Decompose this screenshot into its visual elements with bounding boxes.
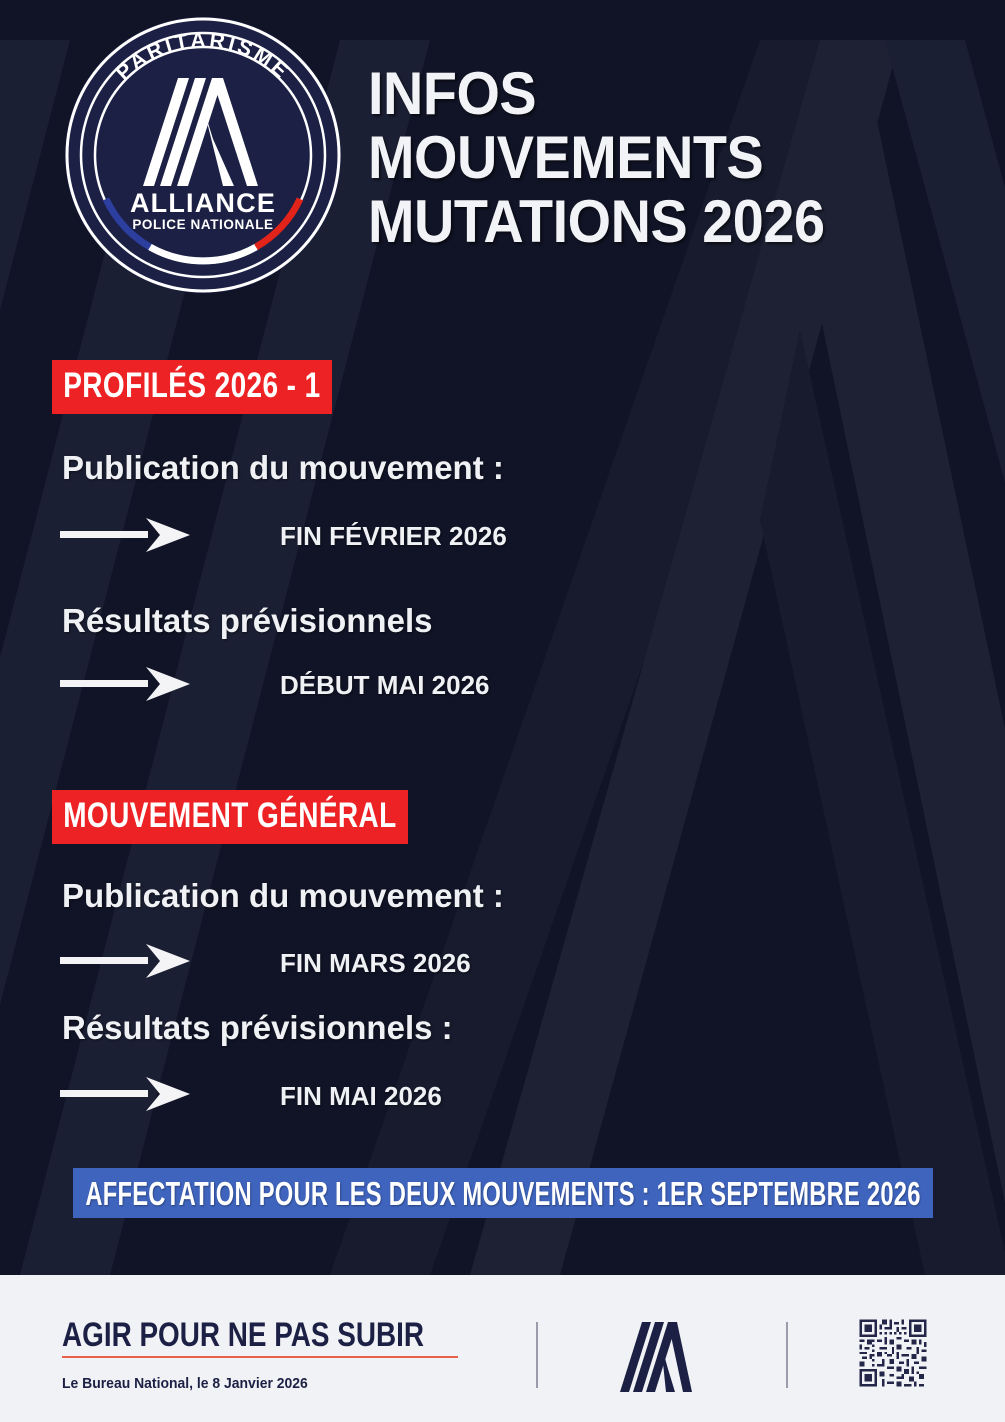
alliance-logo-badge: ALLIANCE POLICE NATIONALE PARITARISME (62, 14, 344, 296)
badge-name: ALLIANCE (130, 188, 276, 218)
arrow-right-icon (60, 512, 190, 558)
section-0-row-1-label: Résultats prévisionnels (62, 603, 432, 639)
title-line-3: MUTATIONS 2026 (368, 190, 825, 254)
badge-subname: POLICE NATIONALE (132, 217, 273, 232)
arrow-right-icon (60, 661, 190, 707)
section-1-row-0-label: Publication du mouvement : (62, 878, 504, 914)
footer-divider-left (536, 1322, 538, 1388)
alliance-logo-mark (612, 1314, 696, 1398)
section-1-row-0-value: FIN MARS 2026 (280, 949, 471, 977)
section-1-row-1-label: Résultats prévisionnels : (62, 1010, 453, 1046)
footer-divider-right (786, 1322, 788, 1388)
qr-code[interactable] (857, 1317, 929, 1389)
poster-header: ALLIANCE POLICE NATIONALE PARITARISME IN… (0, 0, 1005, 310)
arrow-right-icon (60, 938, 190, 984)
section-0-row-0-value: FIN FÉVRIER 2026 (280, 522, 507, 550)
section-1-row-1-value: FIN MAI 2026 (280, 1082, 442, 1110)
page-title: INFOS MOUVEMENTS MUTATIONS 2026 (368, 62, 825, 254)
affectation-banner: AFFECTATION POUR LES DEUX MOUVEMENTS : 1… (73, 1168, 933, 1218)
affectation-banner-text: AFFECTATION POUR LES DEUX MOUVEMENTS : 1… (85, 1177, 920, 1210)
poster-body: ALLIANCE POLICE NATIONALE PARITARISME IN… (0, 0, 1005, 1275)
section-0-row-0-label: Publication du mouvement : (62, 450, 504, 486)
arrow-right-icon (60, 1071, 190, 1117)
footer-slogan: AGIR POUR NE PAS SUBIR (62, 1318, 424, 1352)
section-0-row-1-value: DÉBUT MAI 2026 (280, 671, 490, 699)
title-line-1: INFOS (368, 62, 825, 126)
section-tag-profiles: PROFILÉS 2026 - 1 (52, 360, 332, 414)
section-tag-mouvement-general: MOUVEMENT GÉNÉRAL (52, 790, 408, 844)
title-line-2: MOUVEMENTS (368, 126, 825, 190)
footer-slogan-underline (62, 1356, 458, 1358)
poster: ALLIANCE POLICE NATIONALE PARITARISME IN… (0, 0, 1005, 1422)
footer-signature: Le Bureau National, le 8 Janvier 2026 (62, 1375, 308, 1393)
